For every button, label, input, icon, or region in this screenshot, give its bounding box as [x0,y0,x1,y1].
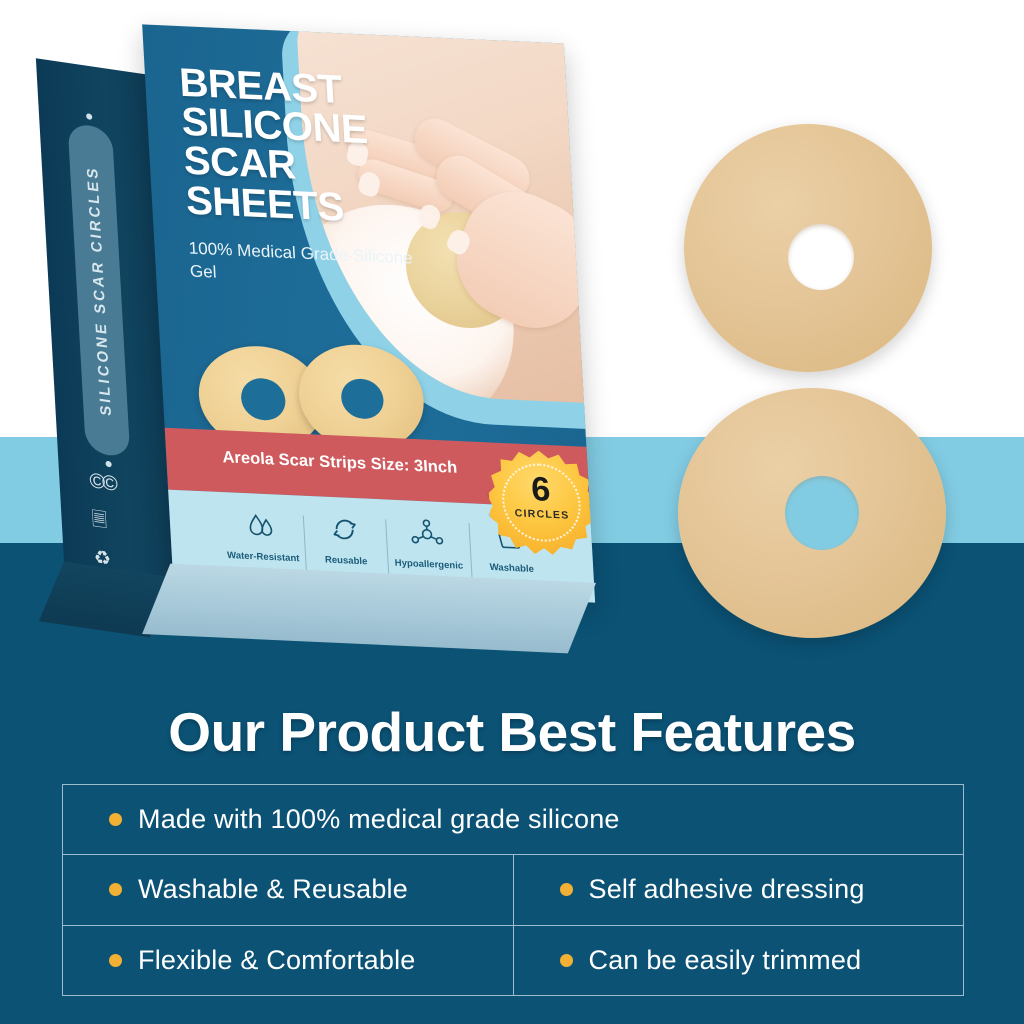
package-front-face: BREAST SILICONE SCAR SHEETS 100% Medical… [142,24,595,602]
bullet-icon [109,813,122,826]
spine-label: SILICONE SCAR CIRCLES [67,122,130,458]
water-drop-icon [246,511,278,544]
spine-dot-icon [105,461,111,468]
bullet-icon [109,954,122,967]
feature-item: Can be easily trimmed [513,926,964,995]
disc-hole [788,224,854,290]
bullet-icon [109,883,122,896]
spine-label-text: SILICONE SCAR CIRCLES [83,164,114,417]
recycle-arrows-icon [329,515,361,548]
features-table: Made with 100% medical grade silicone Wa… [62,784,964,996]
product-package: SILICONE SCAR CIRCLES ©© 🗏 ♻ [0,0,678,696]
features-row: Flexible & Comfortable Can be easily tri… [63,925,963,995]
feature-item: Washable & Reusable [63,855,513,924]
feature-item: Flexible & Comfortable [63,926,513,995]
feature-text: Flexible & Comfortable [138,945,416,976]
spine-dot-icon [86,113,92,120]
feature-text: Made with 100% medical grade silicone [138,804,620,835]
features-row: Washable & Reusable Self adhesive dressi… [63,854,963,924]
molecule-icon [409,518,445,552]
product-marketing-image: SILICONE SCAR CIRCLES ©© 🗏 ♻ [0,0,1024,1024]
package-feature-label: Washable [489,562,534,575]
feature-text: Self adhesive dressing [589,874,865,905]
feature-text: Washable & Reusable [138,874,408,905]
feature-text: Can be easily trimmed [589,945,862,976]
package-feature-label: Hypoallergenic [394,558,463,572]
feature-item: Self adhesive dressing [513,855,964,924]
silicone-disc-top [684,124,932,372]
leaflet-icon: 🗏 [91,510,107,531]
features-heading: Our Product Best Features [0,700,1024,764]
package-subtitle: 100% Medical Grade Silicone Gel [188,238,422,294]
feature-item: Made with 100% medical grade silicone [63,785,963,854]
disc-hole [785,476,859,550]
features-row: Made with 100% medical grade silicone [63,785,963,854]
badge-count: 6 [488,470,594,509]
ce-mark-icon: ©© [89,470,115,495]
bullet-icon [560,883,573,896]
circles-count-badge: 6 CIRCLES [486,448,595,557]
package-title: BREAST SILICONE SCAR SHEETS [178,64,438,232]
silicone-disc-bottom [678,388,946,638]
bullet-icon [560,954,573,967]
package-feature-label: Reusable [325,554,368,567]
package-feature-label: Water-Resistant [227,550,300,564]
